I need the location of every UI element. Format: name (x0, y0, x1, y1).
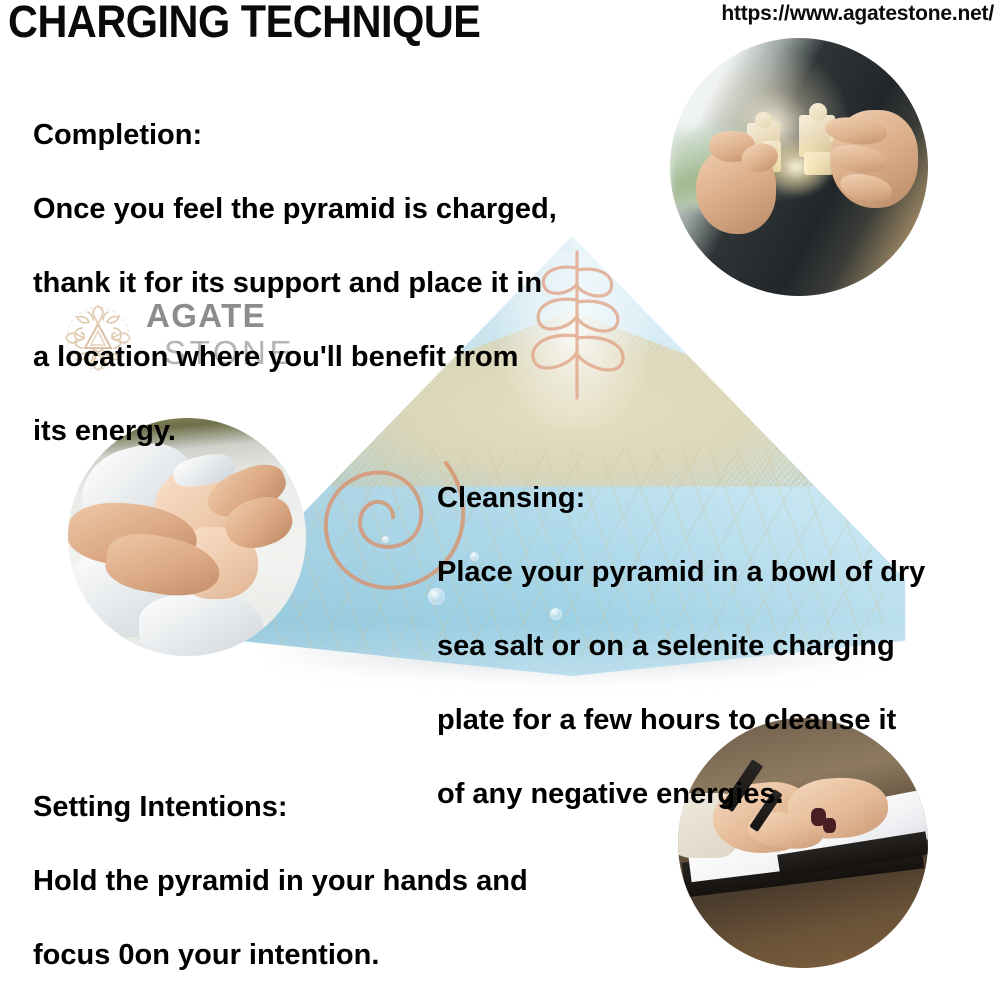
website-url[interactable]: https://www.agatestone.net/ (721, 2, 994, 26)
completion-text-block: Completion: Once you feel the pyramid is… (33, 80, 557, 486)
cleansing-line-2: sea salt or on a selenite charging (437, 627, 925, 665)
intentions-heading: Setting Intentions: (33, 788, 543, 826)
cleansing-line-1: Place your pyramid in a bowl of dry (437, 553, 925, 591)
cleansing-heading: Cleansing: (437, 479, 925, 517)
intentions-line-1: Hold the pyramid in your hands and (33, 862, 543, 900)
intentions-line-2: focus 0on your intention. (33, 936, 543, 974)
completion-line-2: thank it for its support and place it in (33, 264, 557, 302)
resin-bubble (382, 536, 389, 543)
setting-intentions-text-block: Setting Intentions: Hold the pyramid in … (33, 752, 543, 1000)
infographic-canvas: CHARGING TECHNIQUE https://www.agateston… (0, 0, 1000, 1000)
completion-heading: Completion: (33, 116, 557, 154)
hands-puzzle-photo (670, 38, 928, 296)
completion-line-3: a location where you'll benefit from (33, 338, 557, 376)
completion-line-1: Once you feel the pyramid is charged, (33, 190, 557, 228)
page-title: CHARGING TECHNIQUE (8, 0, 480, 46)
cleansing-line-3: plate for a few hours to cleanse it (437, 701, 925, 739)
